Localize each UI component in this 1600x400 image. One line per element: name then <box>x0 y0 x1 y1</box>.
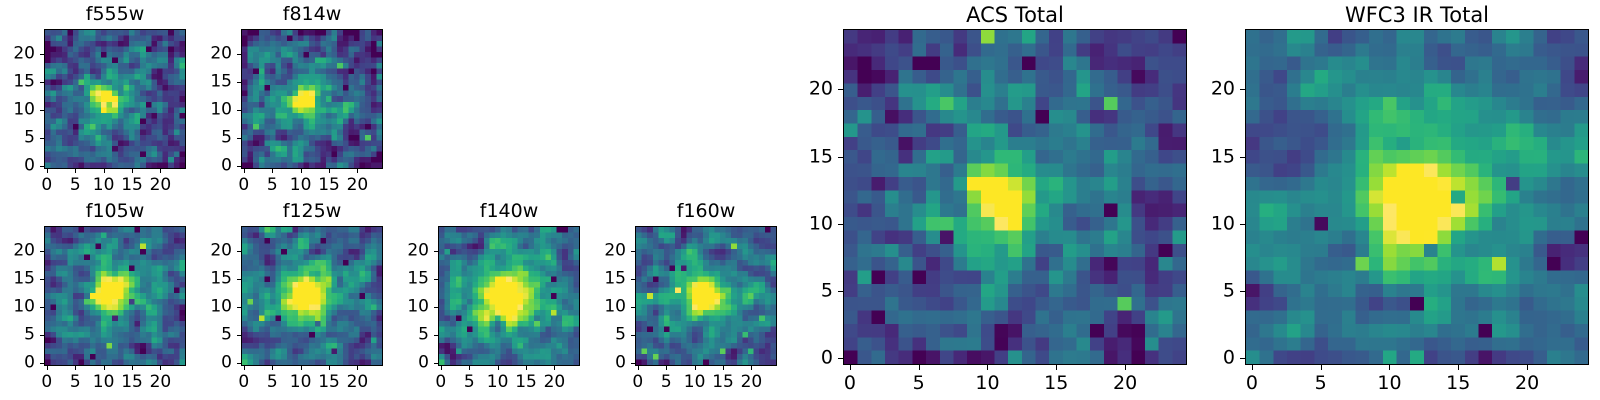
yticklabel-f555w-2: 10 <box>0 102 35 119</box>
xticklabel-f140w-4: 20 <box>544 374 566 391</box>
xticklabel-f105w-2: 10 <box>93 374 115 391</box>
xtick-f105w-2 <box>104 366 105 370</box>
xticklabel-wfc3-ir-total-2: 10 <box>1377 374 1401 393</box>
xticklabel-f555w-2: 10 <box>93 177 115 194</box>
yticklabel-f105w-3: 15 <box>0 271 35 288</box>
xtick-f160w-1 <box>666 366 667 370</box>
heatmap-image-f125w <box>242 227 382 365</box>
heatmap-axes-acs-total <box>843 29 1187 365</box>
xtick-f555w-4 <box>160 169 161 173</box>
xticklabel-f125w-3: 15 <box>318 374 340 391</box>
xtick-acs-total-4 <box>1125 365 1126 370</box>
xticklabel-f555w-1: 5 <box>70 177 81 194</box>
heatmap-image-f140w <box>439 227 579 365</box>
yticklabel-f555w-4: 20 <box>0 46 35 63</box>
ytick-f125w-4 <box>237 251 241 252</box>
ytick-f160w-4 <box>631 251 635 252</box>
yticklabel-f160w-3: 15 <box>575 271 626 288</box>
xtick-acs-total-2 <box>987 365 988 370</box>
xticklabel-f814w-3: 15 <box>318 177 340 194</box>
panel-title-f105w: f105w <box>44 200 186 222</box>
ytick-f140w-4 <box>434 251 438 252</box>
ytick-f160w-3 <box>631 279 635 280</box>
xticklabel-acs-total-3: 15 <box>1044 374 1068 393</box>
xtick-f140w-2 <box>498 366 499 370</box>
yticklabel-f125w-0: 0 <box>181 355 232 372</box>
xtick-f105w-3 <box>132 366 133 370</box>
xtick-f140w-0 <box>441 366 442 370</box>
ytick-f125w-3 <box>237 279 241 280</box>
ytick-f125w-2 <box>237 307 241 308</box>
panel-title-f814w: f814w <box>241 3 383 25</box>
heatmap-axes-f125w <box>241 226 383 366</box>
xticklabel-f125w-2: 10 <box>290 374 312 391</box>
panel-f105w: f105w0510152005101520 <box>0 200 196 396</box>
xtick-f160w-4 <box>751 366 752 370</box>
xtick-f125w-1 <box>272 366 273 370</box>
yticklabel-wfc3-ir-total-4: 20 <box>1185 80 1235 99</box>
ytick-f814w-0 <box>237 166 241 167</box>
yticklabel-acs-total-1: 5 <box>783 282 833 301</box>
xtick-f555w-1 <box>75 169 76 173</box>
panel-title-f555w: f555w <box>44 3 186 25</box>
yticklabel-f814w-3: 15 <box>181 74 232 91</box>
xtick-f125w-0 <box>244 366 245 370</box>
xtick-wfc3-ir-total-2 <box>1389 365 1390 370</box>
ytick-f160w-1 <box>631 335 635 336</box>
xticklabel-acs-total-4: 20 <box>1113 374 1137 393</box>
xtick-acs-total-3 <box>1056 365 1057 370</box>
ytick-acs-total-2 <box>838 224 843 225</box>
panel-f160w: f160w0510152005101520 <box>575 200 787 396</box>
xtick-f555w-3 <box>132 169 133 173</box>
heatmap-axes-f160w <box>635 226 777 366</box>
panel-wfc3-ir-total: WFC3 IR Total0510152005101520 <box>1185 3 1599 395</box>
ytick-f814w-1 <box>237 138 241 139</box>
xtick-f814w-4 <box>357 169 358 173</box>
ytick-f814w-2 <box>237 110 241 111</box>
xtick-acs-total-0 <box>850 365 851 370</box>
ytick-f105w-3 <box>40 279 44 280</box>
yticklabel-f555w-3: 15 <box>0 74 35 91</box>
heatmap-image-f105w <box>45 227 185 365</box>
yticklabel-f555w-0: 0 <box>0 158 35 175</box>
xtick-f160w-0 <box>638 366 639 370</box>
xtick-f140w-3 <box>526 366 527 370</box>
xtick-wfc3-ir-total-0 <box>1252 365 1253 370</box>
xticklabel-f105w-3: 15 <box>121 374 143 391</box>
heatmap-axes-f555w <box>44 29 186 169</box>
yticklabel-wfc3-ir-total-3: 15 <box>1185 147 1235 166</box>
yticklabel-acs-total-0: 0 <box>783 349 833 368</box>
yticklabel-f160w-4: 20 <box>575 243 626 260</box>
xticklabel-f814w-2: 10 <box>290 177 312 194</box>
yticklabel-f814w-4: 20 <box>181 46 232 63</box>
yticklabel-f140w-0: 0 <box>378 355 429 372</box>
ytick-f140w-3 <box>434 279 438 280</box>
xtick-acs-total-1 <box>919 365 920 370</box>
yticklabel-f160w-0: 0 <box>575 355 626 372</box>
xticklabel-f814w-0: 0 <box>238 177 249 194</box>
xticklabel-f140w-2: 10 <box>487 374 509 391</box>
xtick-f814w-2 <box>301 169 302 173</box>
xticklabel-f160w-1: 5 <box>661 374 672 391</box>
ytick-f814w-3 <box>237 82 241 83</box>
xticklabel-f160w-4: 20 <box>741 374 763 391</box>
yticklabel-f105w-2: 10 <box>0 299 35 316</box>
xtick-f140w-4 <box>554 366 555 370</box>
yticklabel-f160w-2: 10 <box>575 299 626 316</box>
yticklabel-f140w-2: 10 <box>378 299 429 316</box>
ytick-wfc3-ir-total-0 <box>1240 358 1245 359</box>
yticklabel-f140w-1: 5 <box>378 327 429 344</box>
yticklabel-f105w-1: 5 <box>0 327 35 344</box>
ytick-f105w-0 <box>40 363 44 364</box>
ytick-f140w-0 <box>434 363 438 364</box>
heatmap-image-f160w <box>636 227 776 365</box>
xtick-f160w-2 <box>695 366 696 370</box>
ytick-acs-total-3 <box>838 157 843 158</box>
xticklabel-f140w-3: 15 <box>515 374 537 391</box>
xtick-f105w-4 <box>160 366 161 370</box>
yticklabel-f555w-1: 5 <box>0 130 35 147</box>
ytick-acs-total-4 <box>838 89 843 90</box>
ytick-f125w-0 <box>237 363 241 364</box>
xtick-wfc3-ir-total-4 <box>1527 365 1528 370</box>
xticklabel-wfc3-ir-total-4: 20 <box>1515 374 1539 393</box>
xtick-f125w-3 <box>329 366 330 370</box>
heatmap-image-f814w <box>242 30 382 168</box>
ytick-f125w-1 <box>237 335 241 336</box>
xticklabel-acs-total-0: 0 <box>844 374 856 393</box>
yticklabel-f140w-4: 20 <box>378 243 429 260</box>
xtick-f555w-0 <box>47 169 48 173</box>
heatmap-image-acs-total <box>844 30 1186 364</box>
xticklabel-f814w-4: 20 <box>347 177 369 194</box>
yticklabel-f105w-4: 20 <box>0 243 35 260</box>
xticklabel-wfc3-ir-total-0: 0 <box>1246 374 1258 393</box>
xticklabel-f160w-0: 0 <box>632 374 643 391</box>
ytick-f555w-3 <box>40 82 44 83</box>
yticklabel-f814w-1: 5 <box>181 130 232 147</box>
xtick-f140w-1 <box>469 366 470 370</box>
yticklabel-f814w-0: 0 <box>181 158 232 175</box>
xtick-f814w-1 <box>272 169 273 173</box>
xticklabel-f555w-4: 20 <box>150 177 172 194</box>
xtick-f125w-2 <box>301 366 302 370</box>
yticklabel-f125w-2: 10 <box>181 299 232 316</box>
ytick-f555w-2 <box>40 110 44 111</box>
yticklabel-f125w-3: 15 <box>181 271 232 288</box>
figure-canvas: f555w0510152005101520f814w05101520051015… <box>0 0 1600 400</box>
xticklabel-f555w-0: 0 <box>41 177 52 194</box>
heatmap-axes-wfc3-ir-total <box>1245 29 1589 365</box>
panel-f140w: f140w0510152005101520 <box>378 200 590 396</box>
yticklabel-f160w-1: 5 <box>575 327 626 344</box>
xtick-f105w-0 <box>47 366 48 370</box>
yticklabel-f105w-0: 0 <box>0 355 35 372</box>
xticklabel-wfc3-ir-total-1: 5 <box>1315 374 1327 393</box>
panel-title-acs-total: ACS Total <box>843 3 1187 27</box>
ytick-f555w-1 <box>40 138 44 139</box>
heatmap-axes-f140w <box>438 226 580 366</box>
ytick-f105w-2 <box>40 307 44 308</box>
ytick-acs-total-1 <box>838 291 843 292</box>
ytick-f105w-4 <box>40 251 44 252</box>
heatmap-axes-f814w <box>241 29 383 169</box>
xtick-wfc3-ir-total-1 <box>1321 365 1322 370</box>
panel-f814w: f814w0510152005101520 <box>181 3 393 199</box>
yticklabel-acs-total-4: 20 <box>783 80 833 99</box>
ytick-f814w-4 <box>237 54 241 55</box>
ytick-f105w-1 <box>40 335 44 336</box>
panel-title-f125w: f125w <box>241 200 383 222</box>
xtick-f160w-3 <box>723 366 724 370</box>
panel-title-f160w: f160w <box>635 200 777 222</box>
xticklabel-f125w-1: 5 <box>267 374 278 391</box>
panel-title-f140w: f140w <box>438 200 580 222</box>
ytick-wfc3-ir-total-3 <box>1240 157 1245 158</box>
xtick-f125w-4 <box>357 366 358 370</box>
xtick-wfc3-ir-total-3 <box>1458 365 1459 370</box>
xtick-f105w-1 <box>75 366 76 370</box>
yticklabel-f814w-2: 10 <box>181 102 232 119</box>
ytick-f140w-1 <box>434 335 438 336</box>
xticklabel-f105w-4: 20 <box>150 374 172 391</box>
xticklabel-acs-total-2: 10 <box>975 374 999 393</box>
panel-f125w: f125w0510152005101520 <box>181 200 393 396</box>
yticklabel-f125w-1: 5 <box>181 327 232 344</box>
yticklabel-wfc3-ir-total-2: 10 <box>1185 214 1235 233</box>
xticklabel-f125w-4: 20 <box>347 374 369 391</box>
yticklabel-wfc3-ir-total-1: 5 <box>1185 282 1235 301</box>
heatmap-axes-f105w <box>44 226 186 366</box>
yticklabel-wfc3-ir-total-0: 0 <box>1185 349 1235 368</box>
panel-title-wfc3-ir-total: WFC3 IR Total <box>1245 3 1589 27</box>
ytick-f555w-4 <box>40 54 44 55</box>
xticklabel-acs-total-1: 5 <box>913 374 925 393</box>
xticklabel-f105w-0: 0 <box>41 374 52 391</box>
xticklabel-f140w-0: 0 <box>435 374 446 391</box>
xticklabel-f160w-2: 10 <box>684 374 706 391</box>
xtick-f555w-2 <box>104 169 105 173</box>
xtick-f814w-0 <box>244 169 245 173</box>
yticklabel-acs-total-3: 15 <box>783 147 833 166</box>
xticklabel-f125w-0: 0 <box>238 374 249 391</box>
ytick-f140w-2 <box>434 307 438 308</box>
ytick-acs-total-0 <box>838 358 843 359</box>
heatmap-image-wfc3-ir-total <box>1246 30 1588 364</box>
xticklabel-f140w-1: 5 <box>464 374 475 391</box>
xticklabel-f555w-3: 15 <box>121 177 143 194</box>
panel-acs-total: ACS Total0510152005101520 <box>783 3 1197 395</box>
yticklabel-acs-total-2: 10 <box>783 214 833 233</box>
xticklabel-wfc3-ir-total-3: 15 <box>1446 374 1470 393</box>
ytick-wfc3-ir-total-2 <box>1240 224 1245 225</box>
panel-f555w: f555w0510152005101520 <box>0 3 196 199</box>
xtick-f814w-3 <box>329 169 330 173</box>
heatmap-image-f555w <box>45 30 185 168</box>
xticklabel-f105w-1: 5 <box>70 374 81 391</box>
ytick-wfc3-ir-total-4 <box>1240 89 1245 90</box>
yticklabel-f125w-4: 20 <box>181 243 232 260</box>
ytick-wfc3-ir-total-1 <box>1240 291 1245 292</box>
ytick-f555w-0 <box>40 166 44 167</box>
yticklabel-f140w-3: 15 <box>378 271 429 288</box>
ytick-f160w-0 <box>631 363 635 364</box>
xticklabel-f160w-3: 15 <box>712 374 734 391</box>
xticklabel-f814w-1: 5 <box>267 177 278 194</box>
ytick-f160w-2 <box>631 307 635 308</box>
